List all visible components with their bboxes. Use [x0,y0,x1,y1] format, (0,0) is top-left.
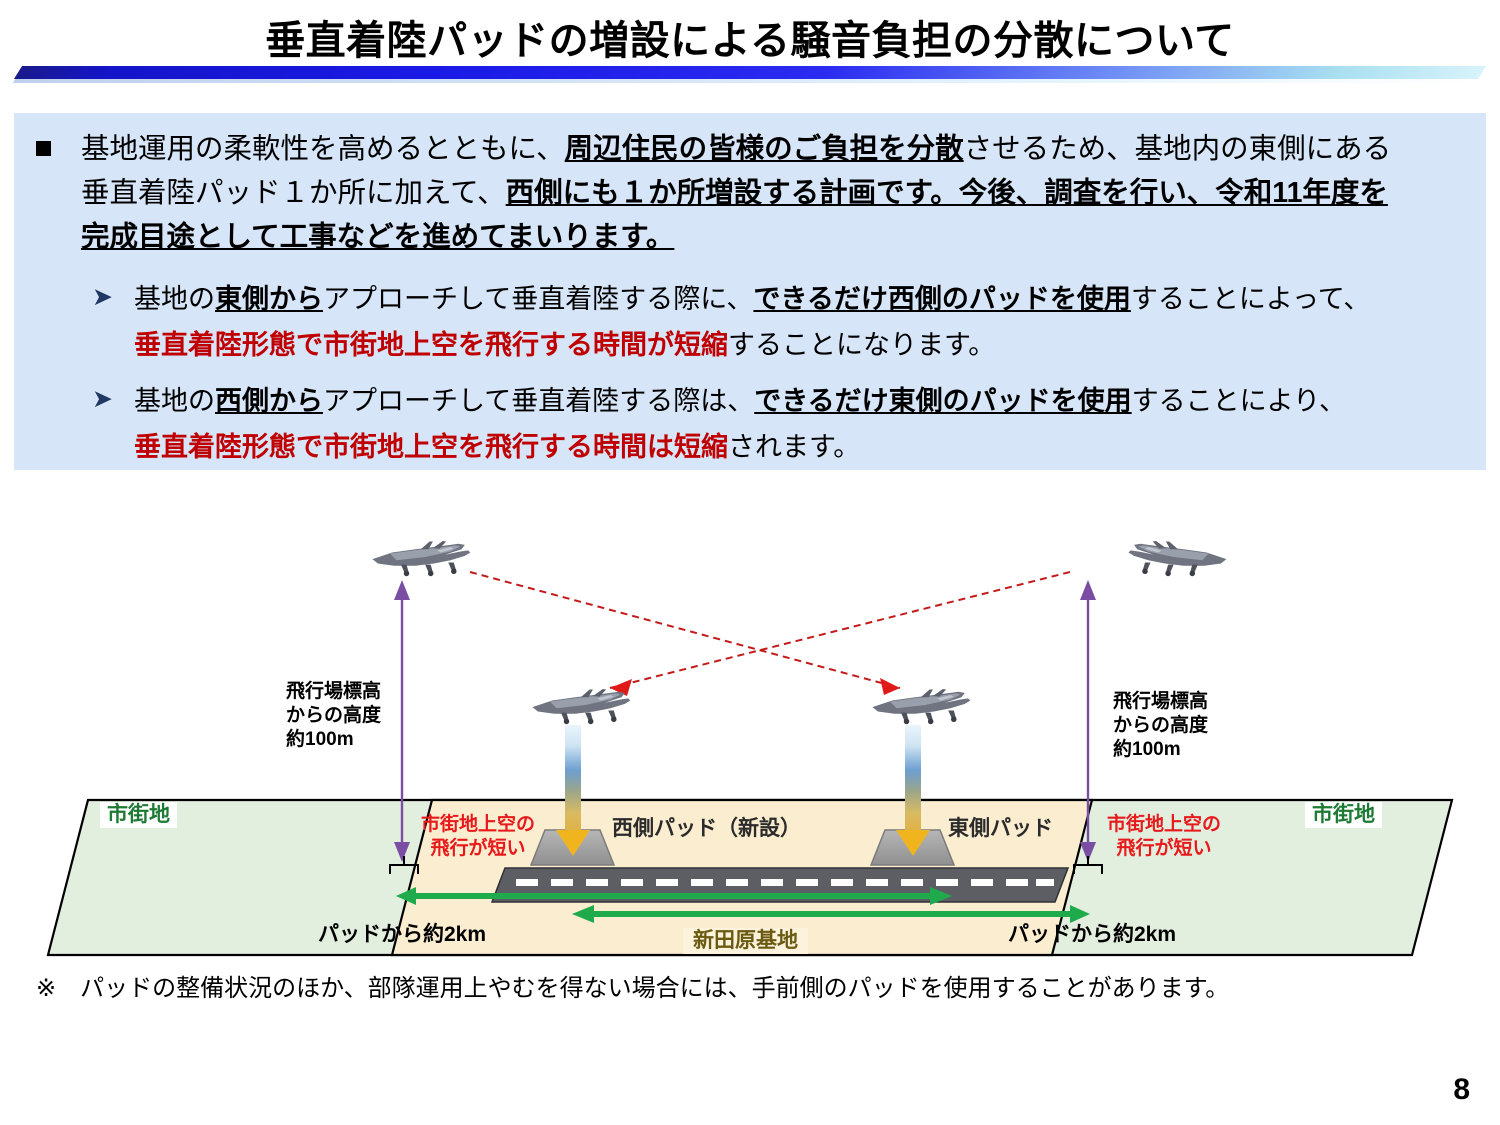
altitude-label-right-line3: 約100m [1113,738,1208,762]
urban-label-left: 市街地 [100,802,177,828]
sub-item-east-approach-text: 基地の東側からアプローチして垂直着陸する際に、できるだけ西側のパッドを使用するこ… [134,276,1472,368]
fighter-jet-icon-upper-right [1128,541,1226,576]
lead-paragraph-text: 基地運用の柔軟性を高めるとともに、周辺住民の皆様のご負担を分散させるため、基地内… [81,127,1466,259]
lead-line1-a: 基地運用の柔軟性を高めるとともに、 [81,133,565,165]
west-l1-u2: できるだけ東側のパッドを使用 [754,386,1131,416]
altitude-arrowhead-left-up [394,580,410,600]
sub-item-east-approach: ➤ 基地の東側からアプローチして垂直着陸する際に、できるだけ西側のパッドを使用す… [92,276,1472,368]
west-pad-label: 西側パッド（新設） [612,817,801,841]
sub-item-west-approach: ➤ 基地の西側からアプローチして垂直着陸する際は、できるだけ東側のパッドを使用す… [92,378,1472,470]
altitude-label-left-line1: 飛行場標高 [286,680,381,704]
altitude-arrowhead-right-up [1080,580,1096,600]
west-l1-b: アプローチして垂直着陸する際は、 [323,386,754,416]
airbase-name-label: 新田原基地 [683,928,808,954]
west-l1-c: することにより、 [1132,386,1346,416]
page-title: 垂直着陸パッドの増設による騒音負担の分散について [0,8,1500,66]
square-bullet-icon [36,141,51,156]
thrust-plume-east [905,725,921,838]
chevron-right-icon: ➤ [92,384,113,414]
short-flight-right-line2: 飛行が短い [1094,837,1234,861]
lead-line3-underlined: 完成目途として工事などを進めてまいります。 [81,221,674,253]
west-l2-black: されます。 [728,432,860,462]
short-flight-label-left: 市街地上空の 飛行が短い [408,813,548,861]
west-l1-u1: 西側から [215,386,323,416]
title-divider-bar [14,66,1486,79]
summary-callout-box: 基地運用の柔軟性を高めるとともに、周辺住民の皆様のご負担を分散させるため、基地内… [14,113,1486,470]
vertical-landing-pad-diagram: 飛行場標高 からの高度 約100m 飛行場標高 からの高度 約100m 市街地上… [0,490,1500,960]
distance-label-left: パッドから約2km [318,923,486,947]
altitude-label-right: 飛行場標高 からの高度 約100m [1113,690,1208,762]
east-pad-label: 東側パッド [948,817,1053,841]
east-l1-u1: 東側から [215,284,323,314]
lead-line2-a: 垂直着陸パッド１か所に加えて、 [81,177,506,209]
chevron-right-icon: ➤ [92,282,113,312]
distance-label-right: パッドから約2km [1008,923,1176,947]
diagram-svg [0,490,1500,960]
east-l2-black: することになります。 [728,330,995,360]
east-l1-c: することによって、 [1131,284,1371,314]
fighter-jet-icon-east-pad [872,689,970,724]
lead-line2-underlined: 西側にも１か所増設する計画です。今後、調査を行い、令和11年度を [506,177,1388,209]
title-divider-shadow [13,79,1479,83]
lead-line1-underlined: 周辺住民の皆様のご負担を分散 [565,133,964,165]
altitude-label-right-line1: 飛行場標高 [1113,690,1208,714]
thrust-plume-west [565,725,581,838]
fighter-jet-icon-west-pad [532,689,630,724]
east-l1-b: アプローチして垂直着陸する際に、 [323,284,753,314]
altitude-label-right-line2: からの高度 [1113,714,1208,738]
altitude-label-left-line3: 約100m [286,728,381,752]
west-l2-red: 垂直着陸形態で市街地上空を飛行する時間は短縮 [134,432,728,462]
short-flight-label-right: 市街地上空の 飛行が短い [1094,813,1234,861]
fighter-jet-icon-upper-left [372,541,470,576]
altitude-label-left: 飛行場標高 からの高度 約100m [286,680,381,752]
east-l2-red: 垂直着陸形態で市街地上空を飛行する時間が短縮 [134,330,728,360]
east-l1-u2: できるだけ西側のパッドを使用 [753,284,1130,314]
page-number: 8 [1453,1073,1470,1107]
short-flight-left-line2: 飛行が短い [408,837,548,861]
short-flight-left-line1: 市街地上空の [408,813,548,837]
urban-label-right: 市街地 [1305,802,1382,828]
west-l1-a: 基地の [134,386,215,416]
flight-path-west-to-east [470,572,900,688]
east-l1-a: 基地の [134,284,215,314]
flight-path-east-to-west [610,572,1070,688]
sub-item-west-approach-text: 基地の西側からアプローチして垂直着陸する際は、できるだけ東側のパッドを使用するこ… [134,378,1472,470]
altitude-label-left-line2: からの高度 [286,704,381,728]
footnote-text: ※ パッドの整備状況のほか、部隊運用上やむを得ない場合には、手前側のパッドを使用… [36,968,1229,1003]
flight-path-arrowhead-east [880,678,900,695]
lead-line1-b: させるため、基地内の東側にある [964,133,1392,165]
lead-paragraph: 基地運用の柔軟性を高めるとともに、周辺住民の皆様のご負担を分散させるため、基地内… [36,127,1466,259]
short-flight-right-line1: 市街地上空の [1094,813,1234,837]
